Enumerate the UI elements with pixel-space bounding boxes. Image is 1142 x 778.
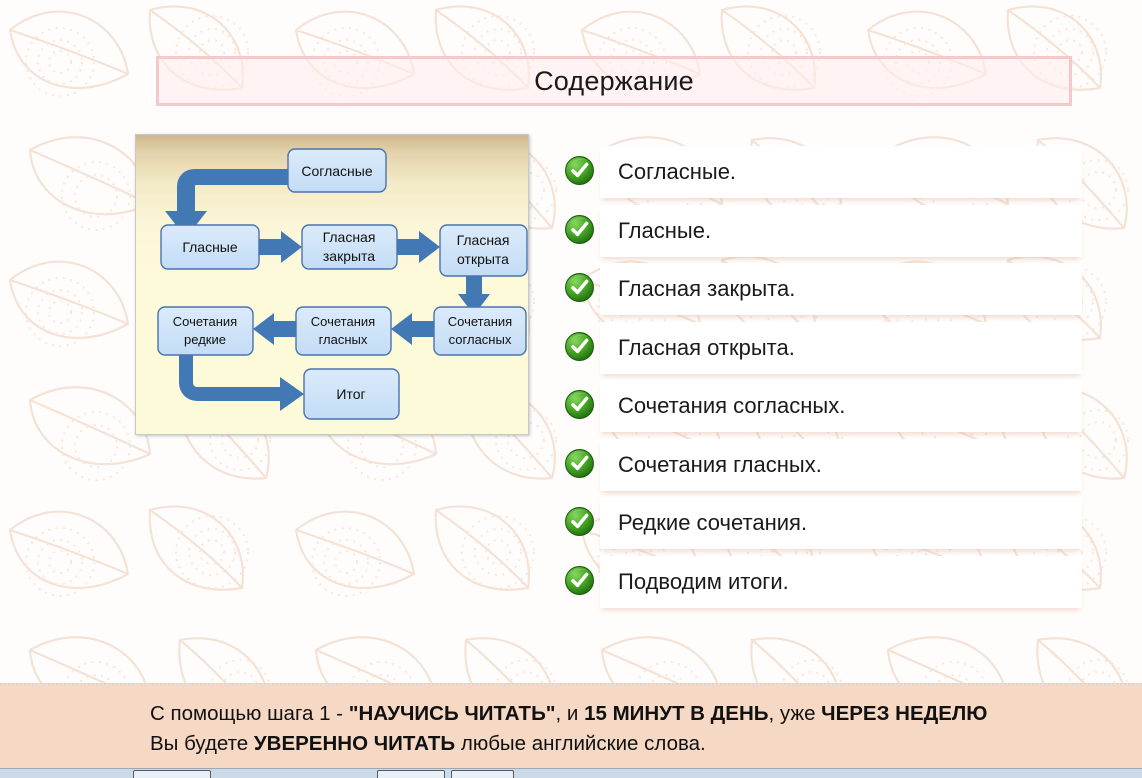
diagram-node-sochetaniya-redkie: Сочетания редкие xyxy=(158,307,253,355)
diagram-node-label: редкие xyxy=(184,332,226,347)
list-item[interactable]: Гласная открыта. xyxy=(560,322,1082,381)
page-title: Содержание xyxy=(534,68,694,95)
edge-zakryta-to-otkryta xyxy=(397,231,440,263)
edge-redkie-to-itog xyxy=(179,355,304,411)
footer-text: С помощью шага 1 - "НАУЧИСЬ ЧИТАТЬ", и 1… xyxy=(150,699,1012,759)
list-item[interactable]: Гласная закрыта. xyxy=(560,263,1082,322)
list-item-panel[interactable]: Подводим итоги. xyxy=(600,556,1082,608)
list-item-panel[interactable]: Гласные. xyxy=(600,205,1082,257)
list-item-label: Подводим итоги. xyxy=(600,569,789,595)
green-check-circle-icon xyxy=(564,565,595,596)
list-item-label: Согласные. xyxy=(600,159,736,185)
list-item-label: Сочетания согласных. xyxy=(600,393,845,419)
green-check-circle-icon xyxy=(564,331,595,362)
footer-band: С помощью шага 1 - "НАУЧИСЬ ЧИТАТЬ", и 1… xyxy=(0,683,1142,768)
diagram-node-label: открыта xyxy=(457,251,509,267)
list-item[interactable]: Гласные. xyxy=(560,205,1082,264)
green-check-circle-icon xyxy=(564,214,595,245)
diagram-node-label: Сочетания xyxy=(311,314,375,329)
diagram-node-label: Гласная xyxy=(457,232,510,248)
footer-plain: Вы будете xyxy=(150,732,254,755)
footer-emphasis: УВЕРЕННО ЧИТАТЬ xyxy=(254,732,455,755)
list-item-label: Гласные. xyxy=(600,218,711,244)
footer-emphasis: ЧЕРЕЗ НЕДЕЛЮ xyxy=(821,702,987,725)
diagram-node-glasnaya-zakryta: Гласная закрыта xyxy=(302,225,397,269)
list-item-panel[interactable]: Гласная открыта. xyxy=(600,322,1082,374)
diagram-node-label: гласных xyxy=(319,332,368,347)
diagram-node-label: закрыта xyxy=(323,248,375,264)
list-item[interactable]: Редкие сочетания. xyxy=(560,497,1082,556)
footer-plain: С помощью шага 1 - xyxy=(150,702,349,725)
list-item-panel[interactable]: Гласная закрыта. xyxy=(600,263,1082,315)
list-item[interactable]: Подводим итоги. xyxy=(560,556,1082,615)
diagram-node-glasnaya-otkryta: Гласная открыта xyxy=(440,225,527,276)
diagram-node-itog: Итог xyxy=(304,369,399,419)
list-item-label: Гласная закрыта. xyxy=(600,276,795,302)
diagram-node-label: согласных xyxy=(449,332,512,347)
footer-plain: , и xyxy=(556,702,585,725)
list-item-label: Гласная открыта. xyxy=(600,335,795,361)
flow-diagram-image: Согласные Гласные Гласная закрыта Гласна… xyxy=(135,134,529,435)
diagram-node-label: Гласные xyxy=(182,239,238,255)
list-item[interactable]: Согласные. xyxy=(560,146,1082,205)
list-item[interactable]: Сочетания гласных. xyxy=(560,439,1082,498)
footer-plain: , уже xyxy=(768,702,821,725)
diagram-node-soglasnye: Согласные xyxy=(288,149,386,192)
diagram-node-sochetaniya-soglasnyh: Сочетания согласных xyxy=(434,307,526,355)
list-item[interactable]: Сочетания согласных. xyxy=(560,380,1082,439)
diagram-node-label: Итог xyxy=(336,386,365,402)
list-item-panel[interactable]: Сочетания гласных. xyxy=(600,439,1082,491)
green-check-circle-icon xyxy=(564,155,595,186)
green-check-circle-icon xyxy=(564,448,595,479)
flow-diagram-svg: Согласные Гласные Гласная закрыта Гласна… xyxy=(136,135,528,434)
list-item-label: Редкие сочетания. xyxy=(600,510,807,536)
list-item-panel[interactable]: Сочетания согласных. xyxy=(600,380,1082,432)
diagram-node-label: Гласная xyxy=(323,229,376,245)
list-item-panel[interactable]: Редкие сочетания. xyxy=(600,497,1082,549)
contents-list: Согласные. Гласные. Гласная закрыта. xyxy=(560,146,1082,614)
green-check-circle-icon xyxy=(564,506,595,537)
edge-soch-soglasnyh-to-soch-glasnyh xyxy=(391,313,434,345)
diagram-node-label: Сочетания xyxy=(173,314,237,329)
diagram-node-label: Согласные xyxy=(301,163,372,179)
footer-emphasis: "НАУЧИСЬ ЧИТАТЬ" xyxy=(349,702,556,725)
slide-canvas: Содержание xyxy=(0,0,1142,777)
diagram-node-sochetaniya-glasnyh: Сочетания гласных xyxy=(296,307,391,355)
footer-emphasis: 15 МИНУТ В ДЕНЬ xyxy=(584,702,768,725)
list-item-panel[interactable]: Согласные. xyxy=(600,146,1082,198)
list-item-label: Сочетания гласных. xyxy=(600,452,822,478)
edge-soch-glasnyh-to-redkie xyxy=(253,313,296,345)
diagram-node-label: Сочетания xyxy=(448,314,512,329)
green-check-circle-icon xyxy=(564,272,595,303)
slide-title-banner: Содержание xyxy=(156,56,1072,106)
footer-plain: любые английские слова. xyxy=(455,732,706,755)
green-check-circle-icon xyxy=(564,389,595,420)
diagram-node-glasnye: Гласные xyxy=(161,225,259,269)
edge-glasnye-to-zakryta xyxy=(259,231,302,263)
